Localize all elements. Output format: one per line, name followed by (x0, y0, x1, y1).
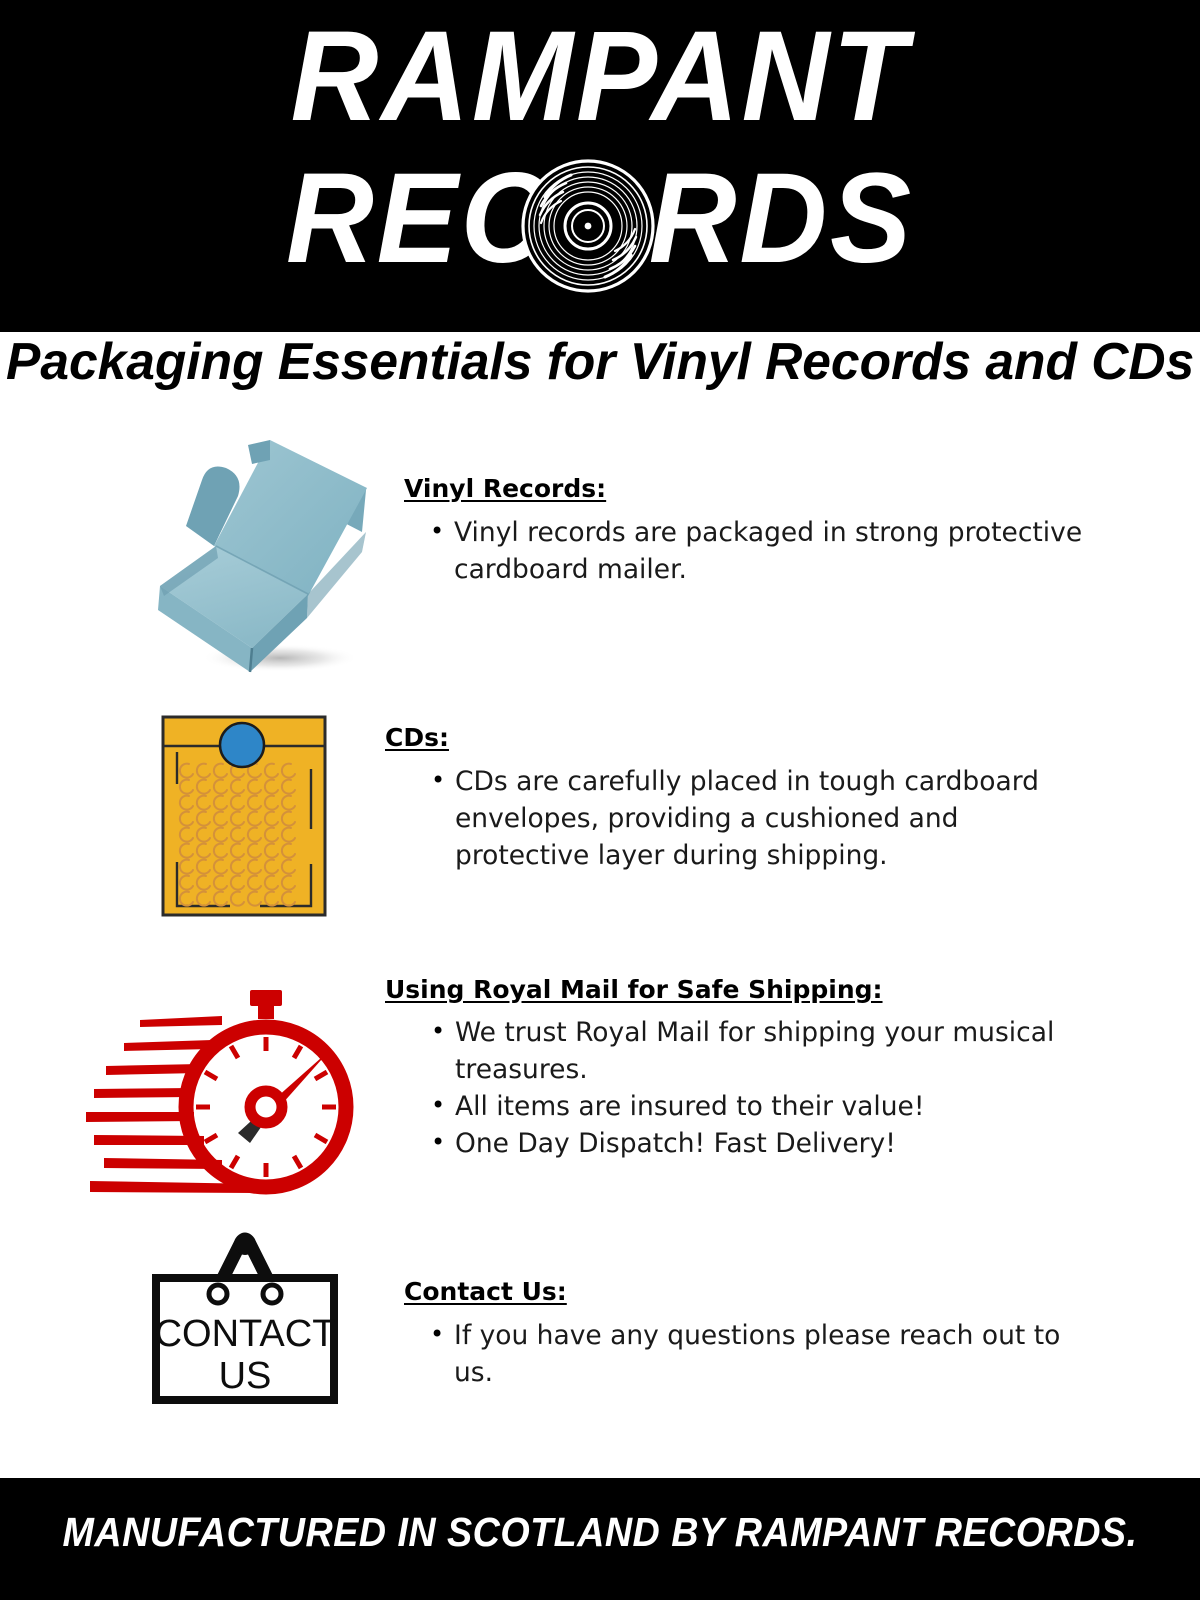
contact-sign-line-1: CONTACT (155, 1313, 336, 1355)
logo-line-rampant: RAMPANT (30, 8, 1170, 146)
contact-us-heading: Contact Us: (404, 1277, 1104, 1307)
contact-us-bullet-list: If you have any questions please reach o… (404, 1317, 1104, 1391)
list-item: If you have any questions please reach o… (429, 1317, 1104, 1391)
list-item: One Day Dispatch! Fast Delivery! (430, 1125, 1095, 1162)
list-item: We trust Royal Mail for shipping your mu… (430, 1014, 1095, 1088)
logo-records-before: REC (286, 147, 551, 290)
logo-records-after: RDS (649, 147, 914, 290)
royal-mail-text-block: Using Royal Mail for Safe Shipping: We t… (385, 975, 1095, 1162)
cds-bullet-list: CDs are carefully placed in tough cardbo… (385, 763, 1095, 874)
fast-stopwatch-icon (72, 955, 362, 1205)
vinyl-records-heading: Vinyl Records: (404, 474, 1104, 504)
contact-us-sign-icon: CONTACT US (145, 1218, 345, 1404)
royal-mail-bullet-list: We trust Royal Mail for shipping your mu… (385, 1014, 1095, 1162)
header-banner: RAMPANT RECORDS (0, 0, 1200, 332)
cardboard-mailer-box-icon (130, 418, 390, 688)
contact-sign-line-2: US (219, 1355, 272, 1397)
footer-banner: MANUFACTURED IN SCOTLAND BY RAMPANT RECO… (0, 1478, 1200, 1600)
list-item: CDs are carefully placed in tough cardbo… (430, 763, 1095, 874)
cds-heading: CDs: (385, 723, 1095, 753)
vinyl-record-icon (521, 159, 655, 293)
logo-line-records-wrap: RECORDS (0, 150, 1200, 300)
cds-text-block: CDs: CDs are carefully placed in tough c… (385, 723, 1095, 874)
vinyl-records-text-block: Vinyl Records: Vinyl records are package… (404, 474, 1104, 588)
list-item: All items are insured to their value! (430, 1088, 1095, 1125)
list-item: Vinyl records are packaged in strong pro… (429, 514, 1104, 588)
contact-us-text-block: Contact Us: If you have any questions pl… (404, 1277, 1104, 1391)
footer-text: MANUFACTURED IN SCOTLAND BY RAMPANT RECO… (48, 1510, 1152, 1555)
page-subtitle: Packaging Essentials for Vinyl Records a… (6, 336, 1194, 388)
royal-mail-heading: Using Royal Mail for Safe Shipping: (385, 975, 1095, 1005)
vinyl-records-bullet-list: Vinyl records are packaged in strong pro… (404, 514, 1104, 588)
padded-bubble-mailer-icon (160, 714, 328, 918)
